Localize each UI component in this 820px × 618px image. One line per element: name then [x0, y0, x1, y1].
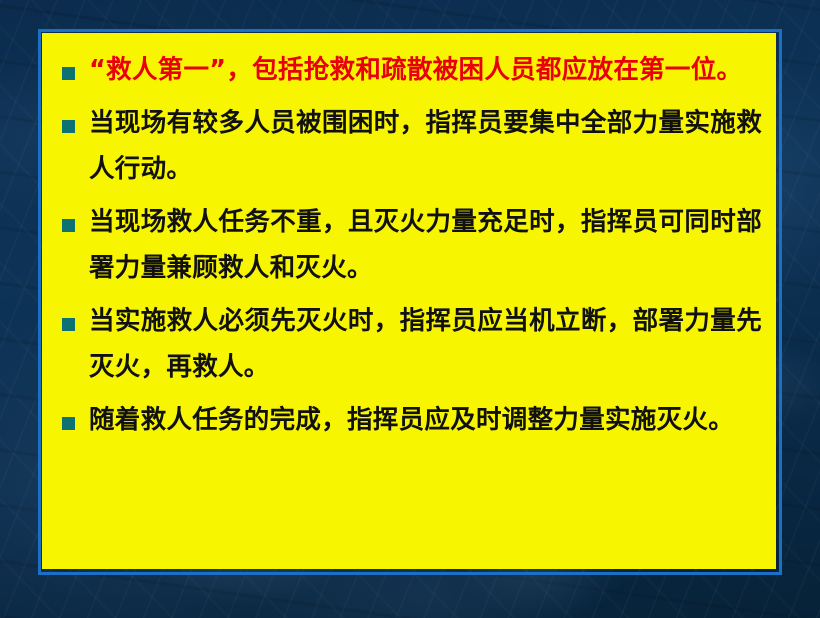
- presentation-slide: “救人第一”，包括抢救和疏散被困人员都应放在第一位。 当现场有较多人员被围困时，…: [0, 0, 820, 618]
- list-item: 随着救人任务的完成，指挥员应及时调整力量实施灭火。: [52, 397, 762, 443]
- list-item: 当实施救人必须先灭火时，指挥员应当机立断，部署力量先灭火，再救人。: [52, 298, 762, 390]
- square-bullet-icon: [62, 120, 75, 133]
- list-item: 当现场救人任务不重，且灭火力量充足时，指挥员可同时部署力量兼顾救人和灭火。: [52, 199, 762, 291]
- list-item-text: 当现场有较多人员被围困时，指挥员要集中全部力量实施救人行动。: [89, 100, 762, 192]
- list-item-text: 随着救人任务的完成，指挥员应及时调整力量实施灭火。: [89, 397, 762, 443]
- square-bullet-icon: [62, 318, 75, 331]
- list-item-text: 当实施救人必须先灭火时，指挥员应当机立断，部署力量先灭火，再救人。: [89, 298, 762, 390]
- list-item-text: 当现场救人任务不重，且灭火力量充足时，指挥员可同时部署力量兼顾救人和灭火。: [89, 199, 762, 291]
- square-bullet-icon: [62, 219, 75, 232]
- list-item: 当现场有较多人员被围困时，指挥员要集中全部力量实施救人行动。: [52, 100, 762, 192]
- bullet-list: “救人第一”，包括抢救和疏散被困人员都应放在第一位。 当现场有较多人员被围困时，…: [52, 47, 762, 443]
- square-bullet-icon: [62, 417, 75, 430]
- list-item-text: “救人第一”，包括抢救和疏散被困人员都应放在第一位。: [89, 47, 762, 93]
- content-panel: “救人第一”，包括抢救和疏散被困人员都应放在第一位。 当现场有较多人员被围困时，…: [42, 33, 776, 569]
- square-bullet-icon: [62, 67, 75, 80]
- list-item: “救人第一”，包括抢救和疏散被困人员都应放在第一位。: [52, 47, 762, 93]
